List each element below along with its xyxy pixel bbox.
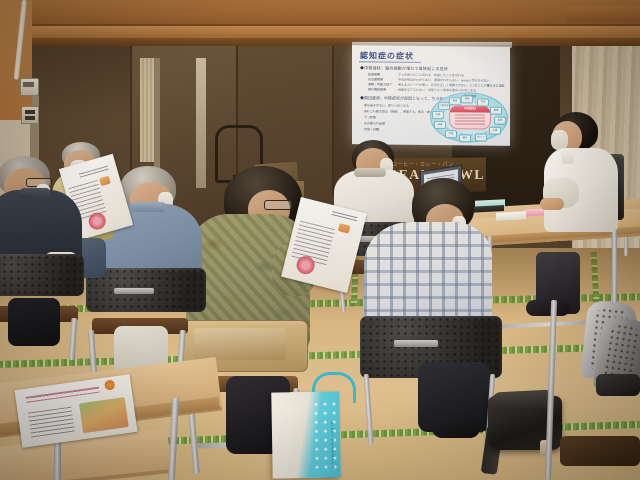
slide-diagram-node: 抑うつ <box>475 133 487 141</box>
slide-diagram-core-lines <box>455 114 485 126</box>
stacked-chair-seat[interactable] <box>596 374 640 396</box>
slide-sub-2-2: うつ状態 <box>364 115 376 119</box>
slide-diagram-node: 暴言 <box>459 134 471 142</box>
thermostat-icon[interactable] <box>20 78 39 96</box>
slide-bullet-core-symptoms: ◆中核症状：脳の細胞が壊れて直接起こる症状 <box>360 65 448 72</box>
handout-illustration <box>99 176 111 186</box>
chair-perforation <box>0 254 84 296</box>
slide-diagram-node: 興奮 <box>434 121 446 129</box>
meeting-room-photo: コーヒー・カレー・パン BEAN BOWL 認知症の症状 ◆中核症状：脳の細胞が… <box>0 0 640 480</box>
slide-sub-2-0: 落ち着きがない、怒りっぽくなる <box>364 103 409 107</box>
attendee-5-collar <box>354 168 386 177</box>
woven-paper-panel <box>140 58 154 162</box>
slide-diagram-node: 異食 <box>449 97 461 105</box>
presenter-collar <box>562 148 574 164</box>
attendee-3-collar <box>132 202 166 212</box>
paper-bag[interactable]: AISEI PHARMACY <box>271 391 340 478</box>
slide-diagram-node: 焦燥 <box>490 107 502 115</box>
handout-photo <box>79 397 129 433</box>
slide-sub-2-4: 幻覚・幻聴 <box>364 127 379 131</box>
curtain-rail <box>566 6 640 22</box>
slide-diagram-node: 徘徊 <box>461 95 473 103</box>
power-outlet-icon <box>21 106 39 124</box>
slide-sub-2-3: もの取られ妄想 <box>364 121 385 125</box>
slide-diagram: 認知症状 中核症状 徘徊 不安 焦燥 妄想 幻覚 抑うつ 暴言 不眠 興奮 失禁… <box>430 92 508 143</box>
paper-bag-text: AISEI PHARMACY <box>330 421 336 469</box>
slide-diagram-core-header: 中核症状 <box>450 106 490 112</box>
handout-heading <box>331 211 357 222</box>
attendee-6-shoe <box>432 416 480 438</box>
presenter <box>540 112 632 322</box>
slide-diagram-node: 失禁 <box>432 111 444 119</box>
attendee-1-chair-back[interactable] <box>0 254 84 296</box>
handout-title-line <box>26 387 100 403</box>
slide-diagram-core: 中核症状 <box>449 105 491 129</box>
slide-sub-2-1: あれこれ動き回る（徘徊）、興奮する、暴言・暴力 <box>364 109 433 114</box>
chair-label-strip <box>394 340 438 347</box>
lintel-beam-shadow <box>28 38 640 46</box>
stacked-chair-seat-lower[interactable] <box>560 436 640 466</box>
handout-body-text <box>28 407 75 439</box>
slide-title: 認知症の症状 <box>360 50 414 62</box>
slide-diagram-node: 不安 <box>477 98 489 106</box>
chair-leg <box>364 374 374 444</box>
presenter-face-mask <box>551 130 568 150</box>
attendee-1 <box>0 156 100 356</box>
presenter-shoe <box>526 300 570 316</box>
attendee-1-trousers <box>8 298 60 346</box>
slide-title-rule <box>359 61 421 63</box>
slide-diagram-node: 不眠 <box>445 130 457 138</box>
projection-screen: 認知症の症状 ◆中核症状：脳の細胞が壊れて直接起こる症状 記憶障害 さっき食べた… <box>352 45 510 146</box>
presenter-hand <box>540 198 564 210</box>
slide-diagram-core-text: 中核症状 <box>450 106 490 110</box>
panel-edge <box>154 58 160 178</box>
slide-sub-1-3: 実行機能障害 計画を立てられない、段取りよく物事を進められなくなる <box>368 87 476 92</box>
leather-bag-flap <box>492 389 555 410</box>
slide-diagram-node: 幻覚 <box>489 127 501 135</box>
ceiling-beam <box>0 0 640 26</box>
attendee-4-glasses-icon <box>264 200 292 210</box>
handout-illustration <box>338 223 351 233</box>
handout-corner-logo <box>104 379 115 390</box>
attendee-6 <box>360 178 502 468</box>
slide-diagram-node: 妄想 <box>494 117 506 125</box>
chair-leg <box>69 318 78 360</box>
attendee-1-collar <box>20 188 50 198</box>
